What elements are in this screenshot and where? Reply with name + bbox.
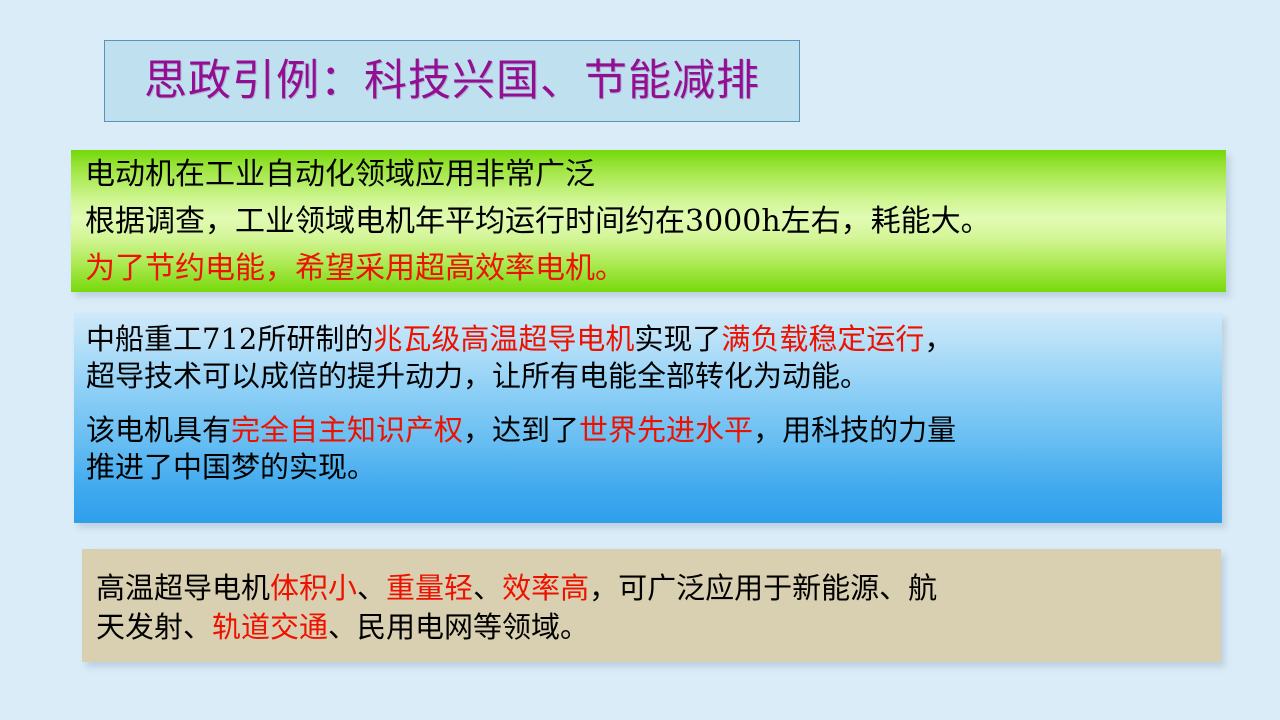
tan-l1-seg7: ，可广泛应用于新能源、航 xyxy=(589,571,937,605)
blue-p2-highlight-2: 世界先进水平 xyxy=(579,413,753,447)
tan-highlight-2: 重量轻 xyxy=(386,571,473,605)
page-title: 思政引例：科技兴国、节能减排 xyxy=(144,60,760,103)
blue-p2-seg3: ，达到了 xyxy=(463,413,579,447)
green-line-3: 为了节约电能，希望采用超高效率电机。 xyxy=(85,248,1212,290)
blue-para-1-line-1: 中船重工712所研制的兆瓦级高温超导电机实现了满负载稳定运行， xyxy=(86,321,1210,358)
tan-content-panel: 高温超导电机体积小、重量轻、效率高，可广泛应用于新能源、航 天发射、轨道交通、民… xyxy=(82,549,1221,662)
paragraph-spacer xyxy=(86,395,1210,412)
green-line-1: 电动机在工业自动化领域应用非常广泛 xyxy=(85,154,1212,196)
slide-canvas: 思政引例：科技兴国、节能减排 电动机在工业自动化领域应用非常广泛 根据调查，工业… xyxy=(0,0,1280,720)
green-line-2: 根据调查，工业领域电机年平均运行时间约在3000h左右，耗能大。 xyxy=(85,196,1212,248)
tan-highlight-1: 体积小 xyxy=(270,571,357,605)
tan-l2-seg1: 天发射、 xyxy=(96,610,212,644)
blue-p1-seg3: 实现了 xyxy=(634,322,721,356)
blue-para-2-line-2: 推进了中国梦的实现。 xyxy=(86,449,1210,486)
blue-p1-highlight-1: 兆瓦级高温超导电机 xyxy=(373,322,634,356)
blue-p2-seg5: ，用科技的力量 xyxy=(753,413,956,447)
tan-l1-seg3: 、 xyxy=(357,571,386,605)
tan-l2-seg3: 、民用电网等领域。 xyxy=(328,610,589,644)
blue-p1-seg5: ， xyxy=(924,322,953,356)
tan-l1-seg1: 高温超导电机 xyxy=(96,571,270,605)
tan-l1-seg5: 、 xyxy=(473,571,502,605)
blue-p2-highlight-1: 完全自主知识产权 xyxy=(231,413,463,447)
green-content-panel: 电动机在工业自动化领域应用非常广泛 根据调查，工业领域电机年平均运行时间约在30… xyxy=(71,150,1226,292)
tan-highlight-3: 效率高 xyxy=(502,571,589,605)
tan-line-2: 天发射、轨道交通、民用电网等领域。 xyxy=(96,608,1207,647)
blue-p1-highlight-2: 满负载稳定运行 xyxy=(721,322,924,356)
blue-p1-seg1: 中船重工712所研制的 xyxy=(86,322,373,356)
blue-content-panel: 中船重工712所研制的兆瓦级高温超导电机实现了满负载稳定运行， 超导技术可以成倍… xyxy=(74,313,1222,523)
tan-highlight-4: 轨道交通 xyxy=(212,610,328,644)
blue-para-2-line-1: 该电机具有完全自主知识产权，达到了世界先进水平，用科技的力量 xyxy=(86,412,1210,449)
tan-line-1: 高温超导电机体积小、重量轻、效率高，可广泛应用于新能源、航 xyxy=(96,569,1207,608)
blue-para-1-line-2: 超导技术可以成倍的提升动力，让所有电能全部转化为动能。 xyxy=(86,358,1210,395)
blue-p2-seg1: 该电机具有 xyxy=(86,413,231,447)
title-banner: 思政引例：科技兴国、节能减排 xyxy=(104,40,800,122)
